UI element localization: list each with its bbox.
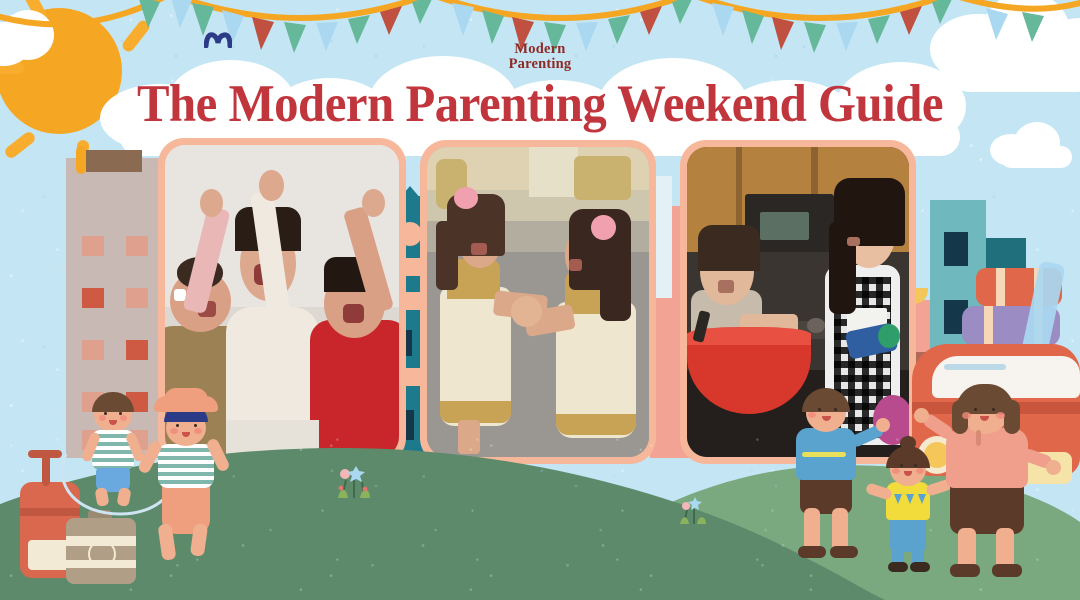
- brand-logo: Modern Parenting: [0, 42, 1080, 71]
- page-title: The Modern Parenting Weekend Guide: [43, 78, 1037, 131]
- grass-flower-cluster: [676, 488, 710, 526]
- poster-canvas: Modern Parenting The Modern Parenting We…: [0, 0, 1080, 600]
- grass-flower-cluster: [332, 452, 376, 500]
- photo-image: [687, 147, 909, 457]
- photo-girls-dancing[interactable]: [420, 140, 656, 464]
- logo-line-2: Parenting: [0, 57, 1080, 72]
- logo-line-1: Modern: [0, 42, 1080, 57]
- photo-image: [427, 147, 649, 457]
- photo-baking-kitchen[interactable]: [680, 140, 916, 464]
